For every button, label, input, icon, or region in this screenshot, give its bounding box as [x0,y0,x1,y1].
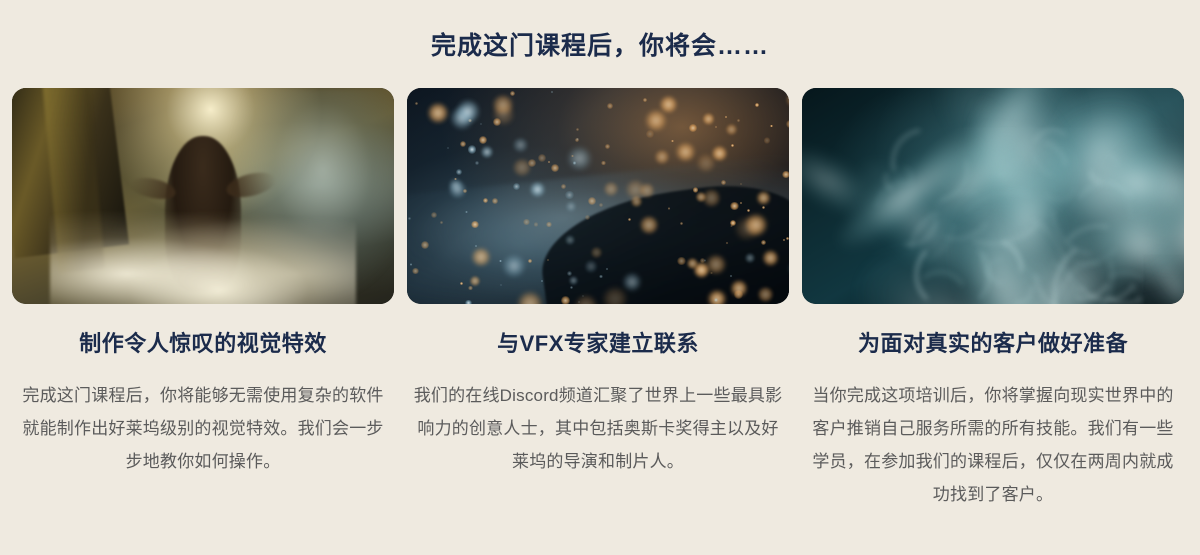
section-heading: 完成这门课程后，你将会…… [0,0,1200,61]
vfx-particles-image [407,88,789,304]
benefit-card-2-title: 与VFX专家建立联系 [407,330,789,358]
benefit-card-3: 为面对真实的客户做好准备 当你完成这项培训后，你将掌握向现实世界中的客户推销自己… [802,88,1184,511]
vfx-water-run-image [12,88,394,304]
vignette-overlay [802,88,1184,304]
benefit-card-3-body: 当你完成这项培训后，你将掌握向现实世界中的客户推销自己服务所需的所有技能。我们有… [802,379,1184,512]
benefit-card-2-body: 我们的在线Discord频道汇聚了世界上一些最具影响力的创意人士，其中包括奥斯卡… [407,379,789,478]
vignette-overlay [407,88,789,304]
vfx-smoke-image [802,88,1184,304]
benefit-card-1-body: 完成这门课程后，你将能够无需使用复杂的软件就能制作出好莱坞级别的视觉特效。我们会… [12,379,394,478]
benefit-cards-row: 制作令人惊叹的视觉特效 完成这门课程后，你将能够无需使用复杂的软件就能制作出好莱… [0,88,1200,511]
benefits-section: 完成这门课程后，你将会…… 制作令人惊叹的视觉特效 完成这门课程后，你将能够无需… [0,0,1200,555]
benefit-card-1: 制作令人惊叹的视觉特效 完成这门课程后，你将能够无需使用复杂的软件就能制作出好莱… [12,88,394,478]
benefit-card-3-title: 为面对真实的客户做好准备 [802,330,1184,358]
vignette-overlay [12,88,394,304]
benefit-card-1-title: 制作令人惊叹的视觉特效 [12,330,394,358]
benefit-card-2: 与VFX专家建立联系 我们的在线Discord频道汇聚了世界上一些最具影响力的创… [407,88,789,478]
